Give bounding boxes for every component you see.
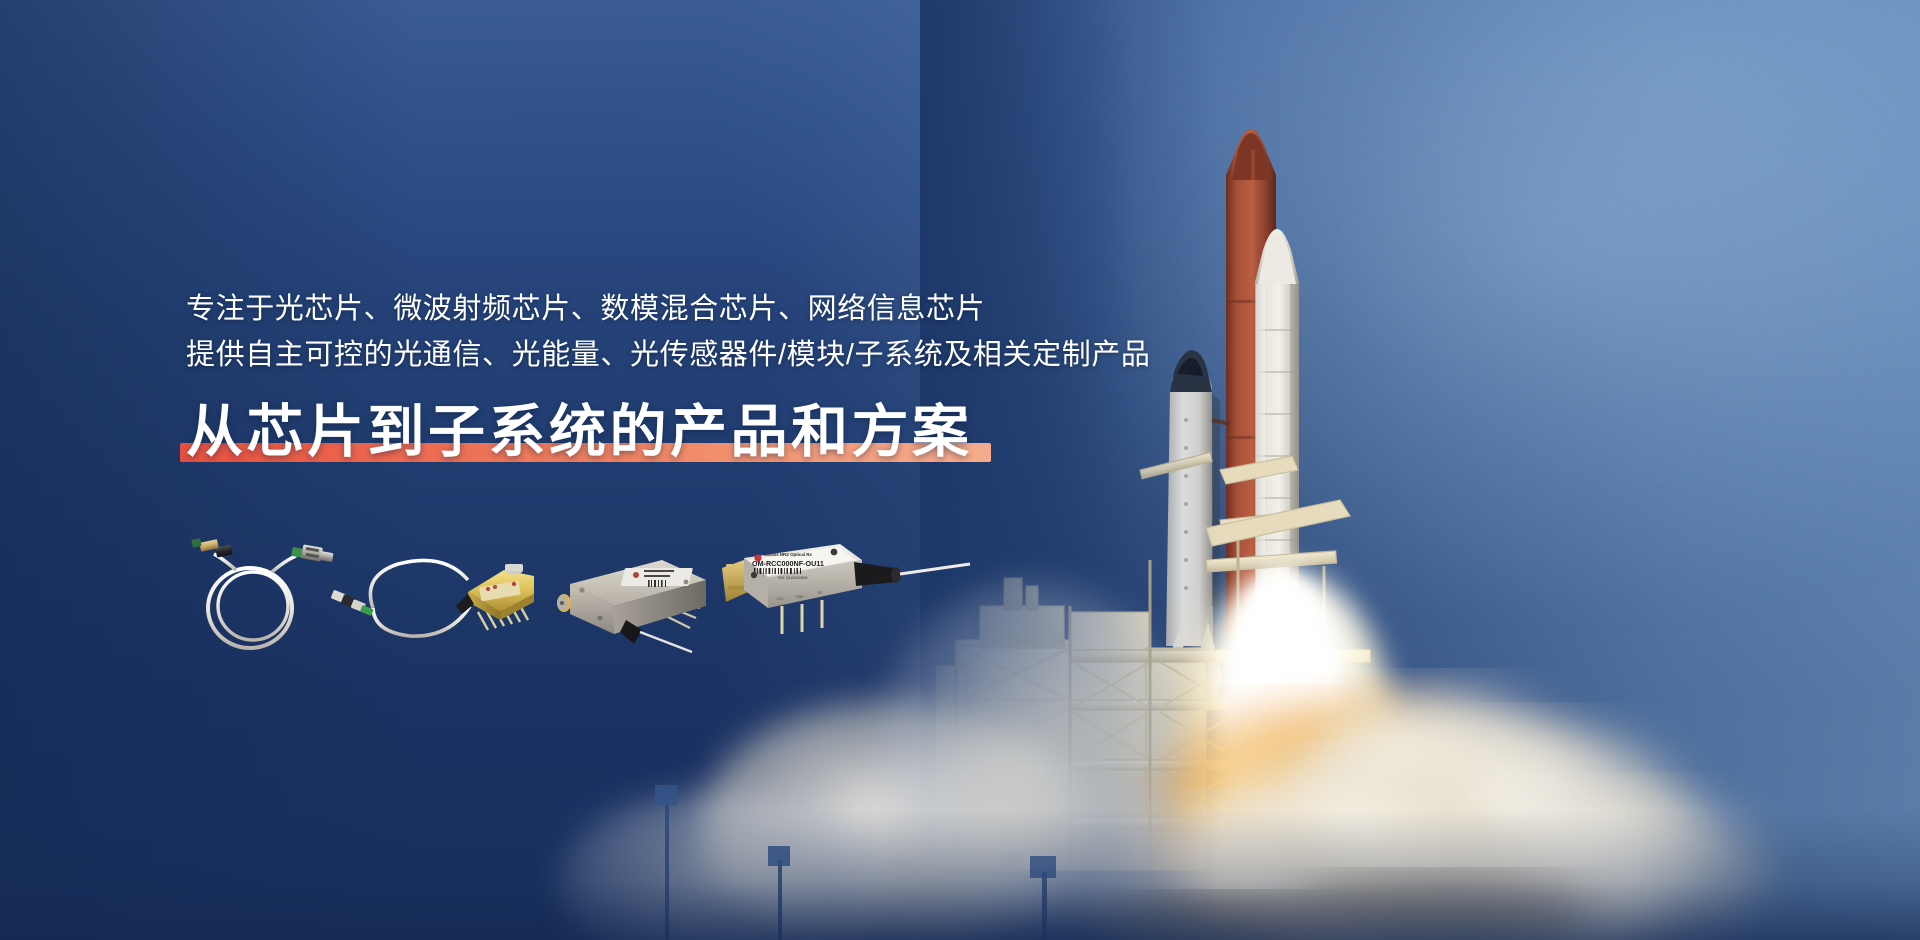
module-serial-text: S/N: QLC0010500	[778, 576, 807, 580]
light-pole-near-head	[1030, 856, 1056, 878]
light-pole-near	[1042, 872, 1047, 940]
page-title: 从芯片到子系统的产品和方案	[186, 396, 973, 468]
svg-text:RF: RF	[818, 591, 823, 595]
light-pole-far-left	[778, 860, 782, 940]
svg-text:+3.3: +3.3	[776, 597, 783, 601]
product-fiber-pigtail-coil[interactable]	[180, 530, 340, 660]
module-sublabel-text: 40Gb/s NRZ Optical Rx	[764, 552, 812, 557]
product-butterfly-laser-module[interactable]	[328, 546, 538, 658]
tagline-line-2: 提供自主可控的光通信、光能量、光传感器件/模块/子系统及相关定制产品	[186, 332, 1151, 378]
headline-group: 从芯片到子系统的产品和方案	[186, 396, 981, 468]
product-optical-receiver-module[interactable]: 40Gb/s NRZ Optical Rx OM-RCC000NF-OU11 S…	[722, 530, 972, 650]
svg-text:GND: GND	[796, 595, 804, 599]
hero-copy: 专注于光芯片、微波射频芯片、数模混合芯片、网络信息芯片 提供自主可控的光通信、光…	[186, 286, 1151, 468]
hero-banner: 专注于光芯片、微波射频芯片、数模混合芯片、网络信息芯片 提供自主可控的光通信、光…	[0, 0, 1920, 940]
butterfly-package	[456, 564, 534, 630]
product-rf-metal-box-module[interactable]	[552, 548, 732, 658]
tagline-line-1: 专注于光芯片、微波射频芯片、数模混合芯片、网络信息芯片	[186, 286, 1151, 332]
sma-connector	[557, 594, 571, 612]
product-showcase: 40Gb/s NRZ Optical Rx OM-RCC000NF-OU11 S…	[180, 520, 1180, 680]
connector-left	[191, 538, 233, 558]
connector-green-left	[331, 590, 374, 616]
module-label-text: OM-RCC000NF-OU11	[752, 559, 824, 568]
light-pole-mid	[665, 800, 669, 940]
light-pole-far-left-head	[768, 846, 790, 866]
light-pole-mid-head	[655, 785, 677, 805]
